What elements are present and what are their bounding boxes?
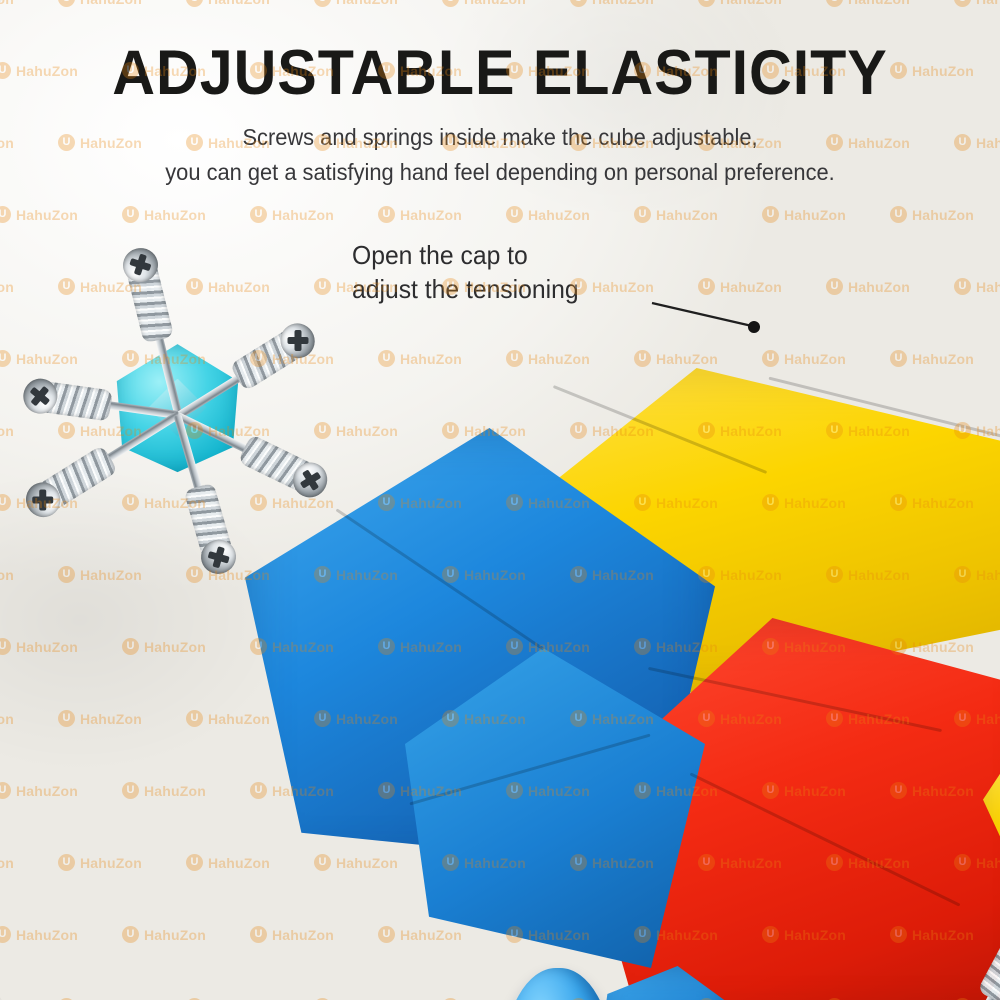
callout-annotation: Open the cap to adjust the tensioning <box>352 238 579 307</box>
rubiks-cube-exploded-view <box>245 368 1000 1000</box>
subtitle-line-1: Screws and springs inside make the cube … <box>35 122 965 153</box>
subtitle-line-2: you can get a satisfying hand feel depen… <box>35 157 965 188</box>
product-marketing-image: ADJUSTABLE ELASTICITY Screws and springs… <box>0 0 1000 1000</box>
callout-pointer-icon <box>630 285 790 355</box>
page-title: ADJUSTABLE ELASTICITY <box>30 42 970 105</box>
callout-line-1: Open the cap to <box>352 238 579 272</box>
detached-blue-cap <box>503 968 613 1000</box>
exploded-core-assembly <box>5 225 350 590</box>
callout-line-2: adjust the tensioning <box>352 272 579 306</box>
